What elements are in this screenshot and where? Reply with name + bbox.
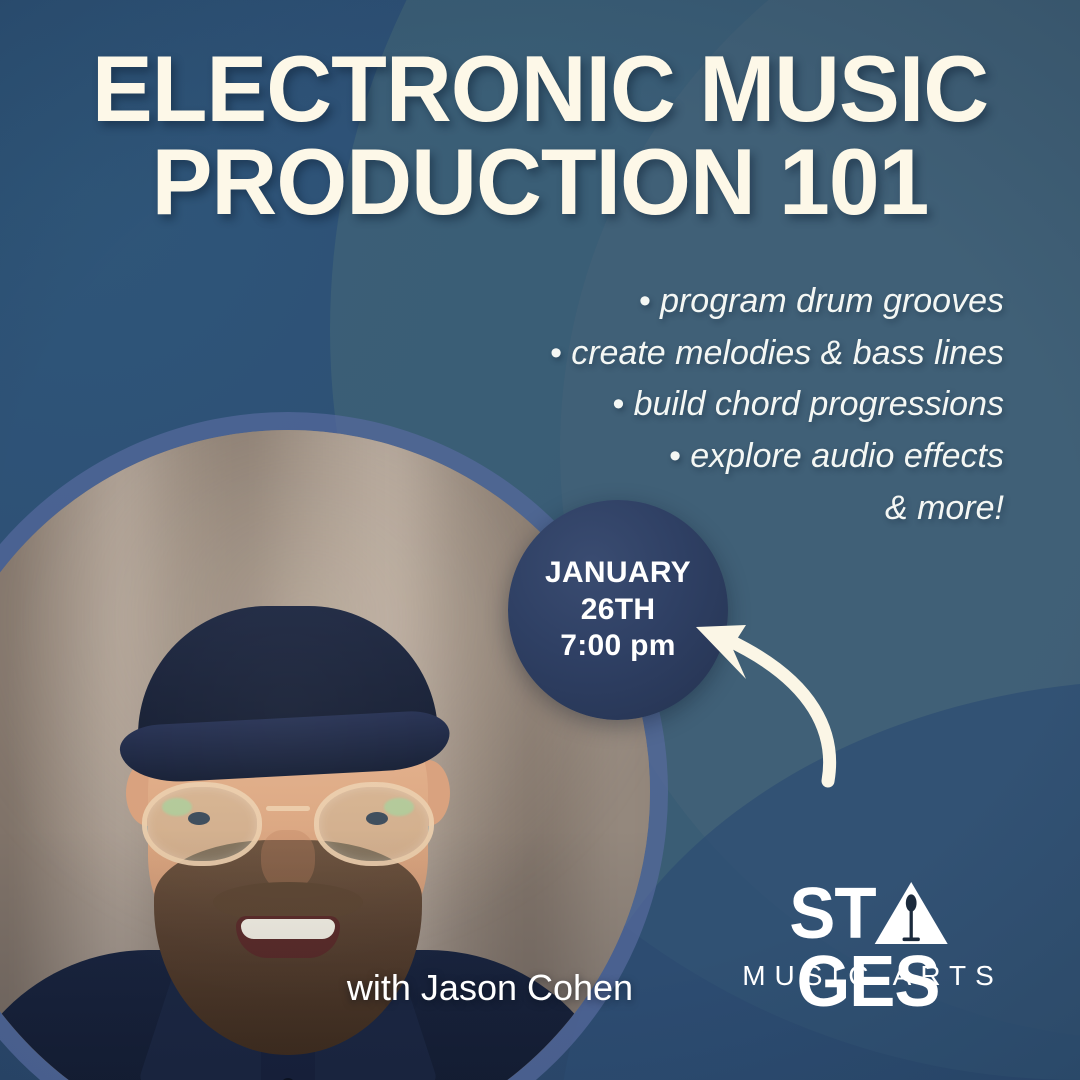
- logo-wordmark: STGES: [724, 880, 1012, 948]
- date-month: JANUARY: [545, 555, 691, 592]
- brand-logo: STGES MUSIC ARTS: [718, 880, 1018, 992]
- stage-microphone-icon: [874, 881, 949, 945]
- curved-arrow-icon: [660, 595, 910, 795]
- list-item: • create melodies & bass lines: [384, 328, 1004, 380]
- list-item: • program drum grooves: [384, 276, 1004, 328]
- poster-canvas: ELECTRONIC MUSIC PRODUCTION 101 • progra…: [0, 0, 1080, 1080]
- speaker-credit: with Jason Cohen: [330, 967, 650, 1009]
- date-day: 26TH: [581, 592, 656, 629]
- date-time: 7:00 pm: [560, 628, 675, 665]
- logo-word-post: GES: [796, 942, 939, 1022]
- page-title: ELECTRONIC MUSIC PRODUCTION 101: [55, 42, 1025, 228]
